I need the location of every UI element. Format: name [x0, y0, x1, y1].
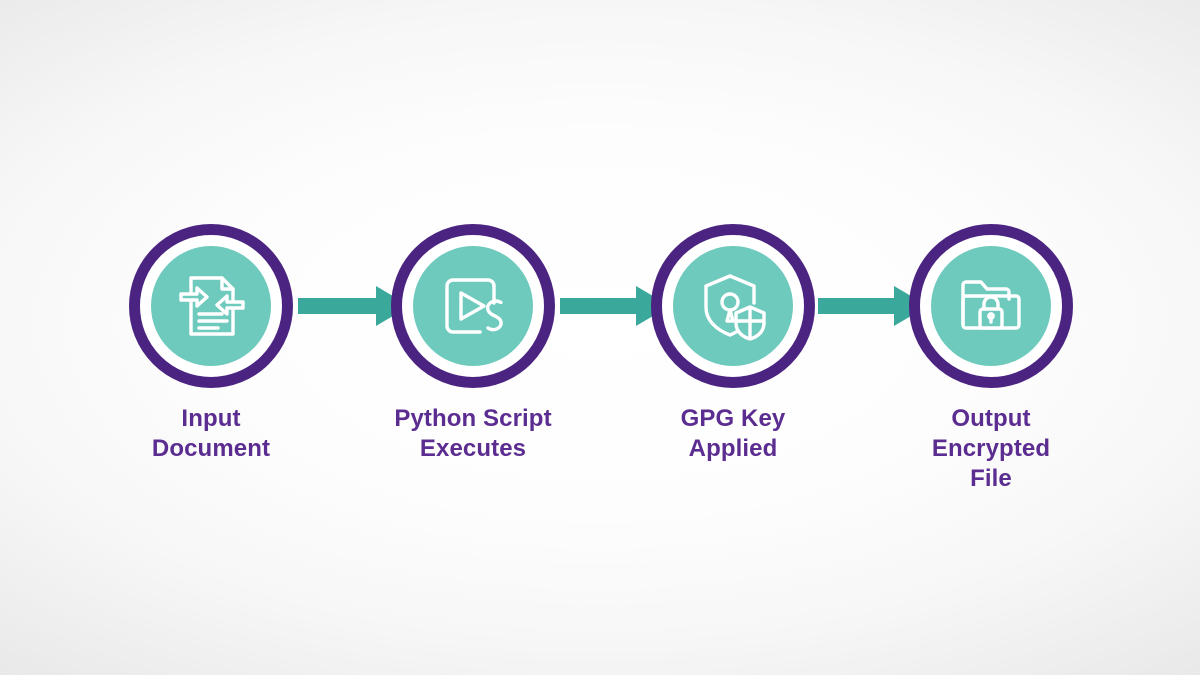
diagram-canvas: Input Document: [0, 0, 1200, 675]
python-script-play-icon: [436, 269, 510, 343]
process-step-input-document[interactable]: Input Document: [129, 224, 293, 388]
step-label-line: Input: [81, 404, 341, 434]
step-label-line: Python Script: [343, 404, 603, 434]
step-icon-disc: [931, 246, 1051, 366]
step-label: Output Encrypted File: [861, 404, 1121, 494]
step-label-line: Executes: [343, 434, 603, 464]
step-label-line: File: [861, 464, 1121, 494]
step-label: Input Document: [81, 404, 341, 464]
process-step-output-encrypted-file[interactable]: Output Encrypted File: [909, 224, 1073, 388]
step-circle: [651, 224, 815, 388]
step-label-line: GPG Key: [603, 404, 863, 434]
document-exchange-icon: [174, 269, 248, 343]
shield-keyhole-icon: [696, 269, 770, 343]
step-label: GPG Key Applied: [603, 404, 863, 464]
step-circle: [391, 224, 555, 388]
step-icon-disc: [413, 246, 533, 366]
step-icon-disc: [673, 246, 793, 366]
step-icon-disc: [151, 246, 271, 366]
step-label-line: Document: [81, 434, 341, 464]
step-circle: [129, 224, 293, 388]
process-step-python-script[interactable]: Python Script Executes: [391, 224, 555, 388]
locked-folder-icon: [954, 269, 1028, 343]
step-label: Python Script Executes: [343, 404, 603, 464]
step-label-line: Applied: [603, 434, 863, 464]
process-step-gpg-key[interactable]: GPG Key Applied: [651, 224, 815, 388]
step-label-line: Output: [861, 404, 1121, 434]
step-circle: [909, 224, 1073, 388]
step-label-line: Encrypted: [861, 434, 1121, 464]
